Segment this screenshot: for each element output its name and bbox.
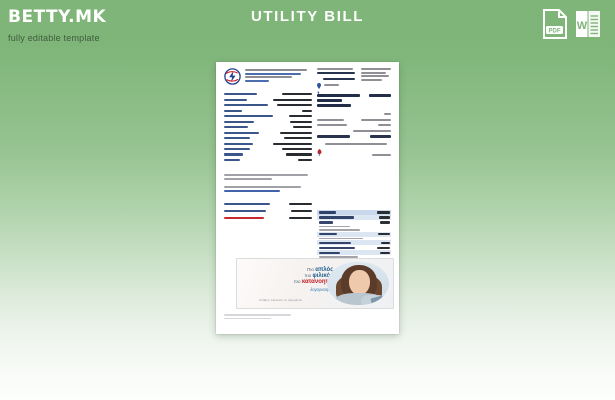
meter-readings-block [317,112,391,138]
bill-period-block [317,94,391,107]
provider-website-line [245,80,269,82]
account-panel [317,68,391,158]
info-row [224,130,312,135]
promo-banner: Πιο απλός, πιο φιλικός, πιο κατανοητός λ… [236,258,394,309]
promo-footnote: πλήθος πελατών το περιμέναν [259,298,302,302]
leaf-icon [317,143,322,150]
terms-note-2 [224,186,312,194]
phone-row [317,83,357,88]
page-title: UTILITY BILL [0,8,615,25]
info-row [224,119,312,124]
svg-text:PDF: PDF [549,28,561,34]
info-row [224,92,312,97]
brand-subtitle: fully editable template [8,33,106,43]
promo-signature: λογαριασμός! [273,287,335,292]
promo-text: Πιο απλός, πιο φιλικός, πιο κατανοητός λ… [273,267,335,292]
payment-summary-rows [224,202,312,222]
promo-line-3: πιο κατανοητός [273,279,335,285]
bill-sheet: Πιο απλός, πιο φιλικός, πιο κατανοητός λ… [216,62,399,334]
customer-info-table [224,92,312,163]
location-pin-icon [317,76,321,82]
payment-due-row [224,216,312,220]
power-company-emblem-icon [224,68,241,85]
address-pin-row [317,76,357,82]
info-row [224,114,312,119]
info-row [224,147,312,152]
bill-footer [224,314,391,321]
file-format-icons: PDF W [542,9,601,39]
eco-message [317,143,391,150]
info-row [224,97,312,102]
barcode [222,260,231,305]
info-row [224,103,312,108]
svg-text:W: W [577,20,588,32]
word-file-icon[interactable]: W [575,9,601,39]
provider-name-block [245,68,312,85]
account-header [317,68,391,89]
info-row [224,125,312,130]
pdf-file-icon[interactable]: PDF [542,9,568,39]
terms-note-1 [224,174,312,182]
info-row [224,136,312,141]
info-row [224,158,312,163]
info-row [224,141,312,146]
provider-name-line [245,69,307,71]
page-header: BETTY.MK fully editable template UTILITY… [0,0,615,52]
customer-photo [327,262,389,305]
provider-contact-line [245,76,292,78]
provider-masthead [224,68,312,85]
info-row [224,152,312,157]
bill-document-preview[interactable]: Πιο απλός, πιο φιλικός, πιο κατανοητός λ… [216,62,399,334]
payment-row [224,202,312,206]
provider-address-line [245,73,301,75]
payment-row [224,209,312,213]
info-row [224,108,312,113]
